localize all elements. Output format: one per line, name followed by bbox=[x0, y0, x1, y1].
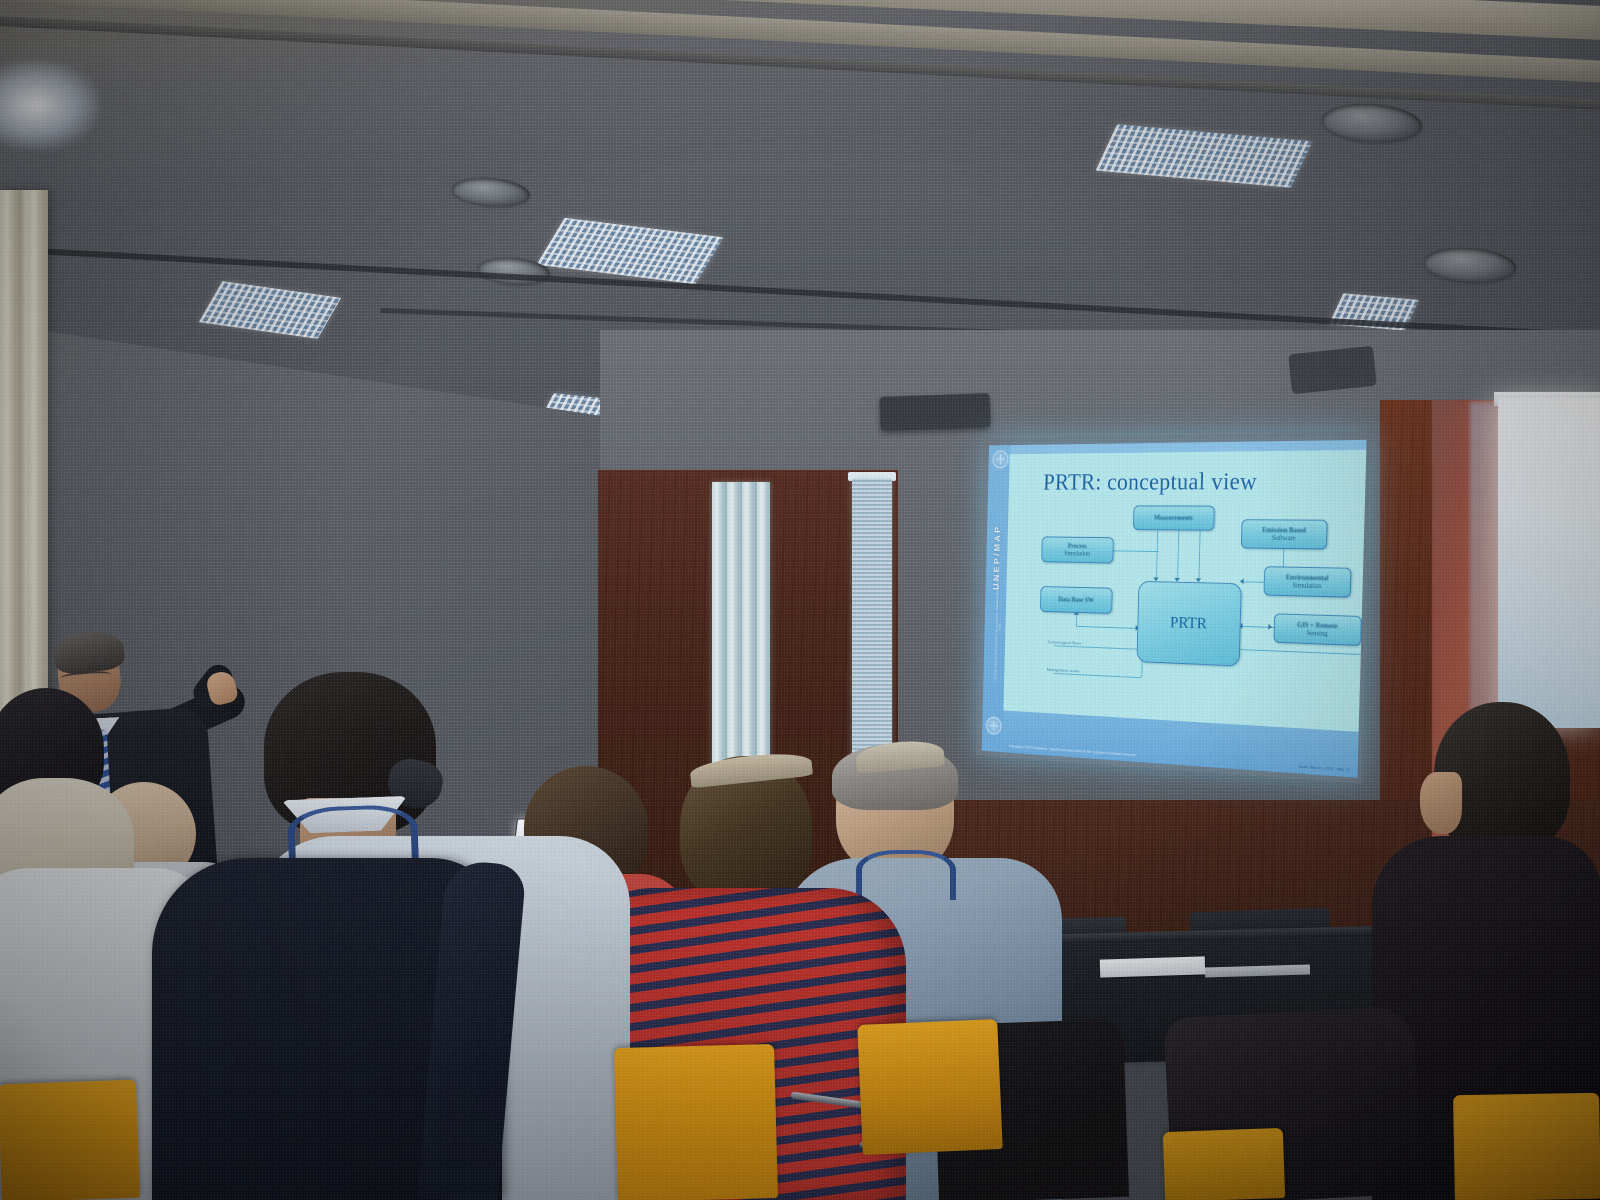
arrow-icon bbox=[1153, 577, 1158, 581]
un-globe-logo-icon bbox=[986, 717, 1002, 735]
node-line2: Simulation bbox=[1064, 550, 1090, 558]
slide-title: PRTR: conceptual view bbox=[1043, 469, 1258, 496]
un-globe-logo-icon bbox=[993, 451, 1009, 468]
node-line1: Measurements bbox=[1154, 514, 1193, 522]
diagram-mini-label-management-issues: Management issues bbox=[1047, 667, 1080, 673]
node-line2: Software bbox=[1272, 534, 1296, 542]
node-line1: Data Base SW bbox=[1058, 596, 1094, 604]
chair[interactable] bbox=[1163, 1128, 1285, 1200]
connector bbox=[1283, 549, 1285, 567]
arrow-icon bbox=[1268, 624, 1272, 630]
arrow-icon bbox=[1136, 625, 1140, 631]
node-line2: Sensing bbox=[1306, 629, 1327, 638]
arrow-icon bbox=[1074, 611, 1079, 615]
chair[interactable] bbox=[857, 1019, 1003, 1155]
node-line1: Emission Based bbox=[1262, 526, 1306, 534]
diagram-node-environmental-simulation: Environmental Simulation bbox=[1264, 566, 1352, 597]
connector bbox=[1114, 550, 1159, 552]
diagram-node-measurements: Measurements bbox=[1133, 505, 1215, 530]
projector-mount bbox=[879, 393, 990, 431]
node-line1: GIS + Remote bbox=[1297, 621, 1338, 630]
arrow-icon bbox=[1240, 578, 1244, 584]
arrow-icon bbox=[1174, 578, 1179, 582]
connector bbox=[1054, 645, 1142, 650]
connector bbox=[1156, 530, 1158, 579]
connector bbox=[1198, 531, 1200, 581]
node-line1: Environmental bbox=[1286, 573, 1329, 582]
chair[interactable] bbox=[1453, 1093, 1600, 1200]
connector bbox=[1242, 581, 1266, 583]
connector bbox=[1076, 613, 1077, 626]
connector bbox=[1076, 626, 1141, 629]
prtr-conceptual-diagram: Measurements Process Simulation Data Bas… bbox=[1024, 502, 1367, 750]
connector bbox=[1240, 649, 1361, 655]
papers-on-table bbox=[1100, 956, 1206, 977]
connector bbox=[1241, 626, 1276, 628]
diagram-mini-label-technological-basis: Technological Basis bbox=[1047, 640, 1081, 646]
audience-lanyard bbox=[856, 850, 956, 900]
diagram-node-data-base-sw: Data Base SW bbox=[1040, 586, 1113, 614]
audience-face bbox=[1420, 772, 1462, 834]
diagram-node-prtr-center: PRTR bbox=[1136, 581, 1241, 667]
diagram-node-gis-remote-sensing: GIS + Remote Sensing bbox=[1273, 613, 1361, 646]
slide-sidebar-sublabel: United Nations Environment Programme / M… bbox=[994, 571, 1003, 682]
ceiling-lamp-glow-icon bbox=[0, 60, 100, 150]
arrow-icon bbox=[1239, 623, 1243, 629]
arrow-icon bbox=[1196, 578, 1201, 582]
node-line2: Simulation bbox=[1292, 581, 1321, 590]
window-daylight bbox=[1498, 398, 1600, 728]
slide-body: PRTR: conceptual view bbox=[1003, 450, 1366, 732]
diagram-node-emission-based-software: Emission Based Software bbox=[1241, 519, 1328, 549]
node-line1: Process bbox=[1068, 542, 1087, 550]
projected-slide: UNEP/MAP United Nations Environment Prog… bbox=[982, 440, 1367, 778]
diagram-node-process-simulation: Process Simulation bbox=[1041, 536, 1114, 563]
connector bbox=[1177, 530, 1179, 580]
conference-room-photo: UNEP/MAP United Nations Environment Prog… bbox=[0, 0, 1600, 1200]
chair[interactable] bbox=[0, 1080, 140, 1200]
slide-footer-right-text: Israel, May 21, 2013 - slide 17 bbox=[1299, 764, 1350, 773]
connector bbox=[1141, 628, 1143, 677]
connector bbox=[1053, 673, 1141, 678]
chair[interactable] bbox=[614, 1044, 778, 1200]
